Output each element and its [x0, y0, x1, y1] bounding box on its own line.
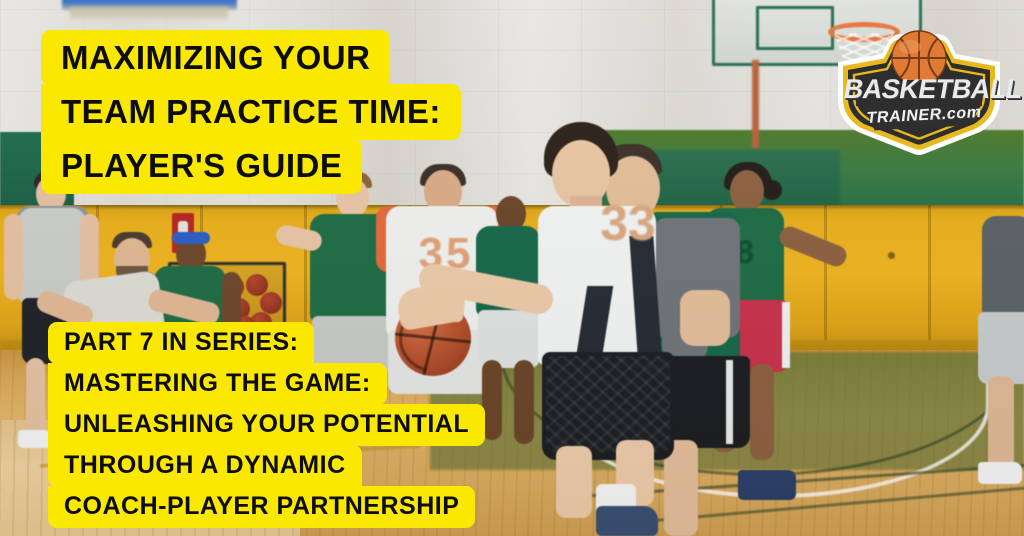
blog-banner: 35 8	[0, 0, 1024, 536]
title-line-1: MAXIMIZING YOUR	[41, 30, 390, 86]
title-line-2: TEAM PRACTICE TIME:	[41, 84, 461, 140]
subtitle-line-5: COACH-PLAYER PARTNERSHIP	[48, 486, 475, 528]
backboard-square	[756, 6, 834, 50]
subtitle-line-4: THROUGH A DYNAMIC	[48, 445, 362, 487]
backboard-support-arm	[752, 60, 759, 148]
banner-title: MAXIMIZING YOUR TEAM PRACTICE TIME: PLAY…	[41, 30, 461, 192]
jersey-number-33: 33	[590, 198, 666, 248]
subtitle-line-1: PART 7 IN SERIES:	[48, 322, 314, 364]
pad-bolt-icon	[888, 252, 895, 259]
title-line-3: PLAYER'S GUIDE	[41, 138, 362, 194]
ceiling-banner-shadow	[70, 7, 228, 20]
basketballtrainer-logo[interactable]: BASKETBALL TRAINER.com	[830, 28, 1008, 156]
banner-subtitle: PART 7 IN SERIES: MASTERING THE GAME: UN…	[48, 322, 485, 527]
finger	[437, 292, 451, 319]
subtitle-line-2: MASTERING THE GAME:	[48, 363, 387, 405]
subtitle-line-3: UNLEASHING YOUR POTENTIAL	[48, 404, 485, 446]
logo-text-basketball: BASKETBALL	[842, 76, 997, 103]
